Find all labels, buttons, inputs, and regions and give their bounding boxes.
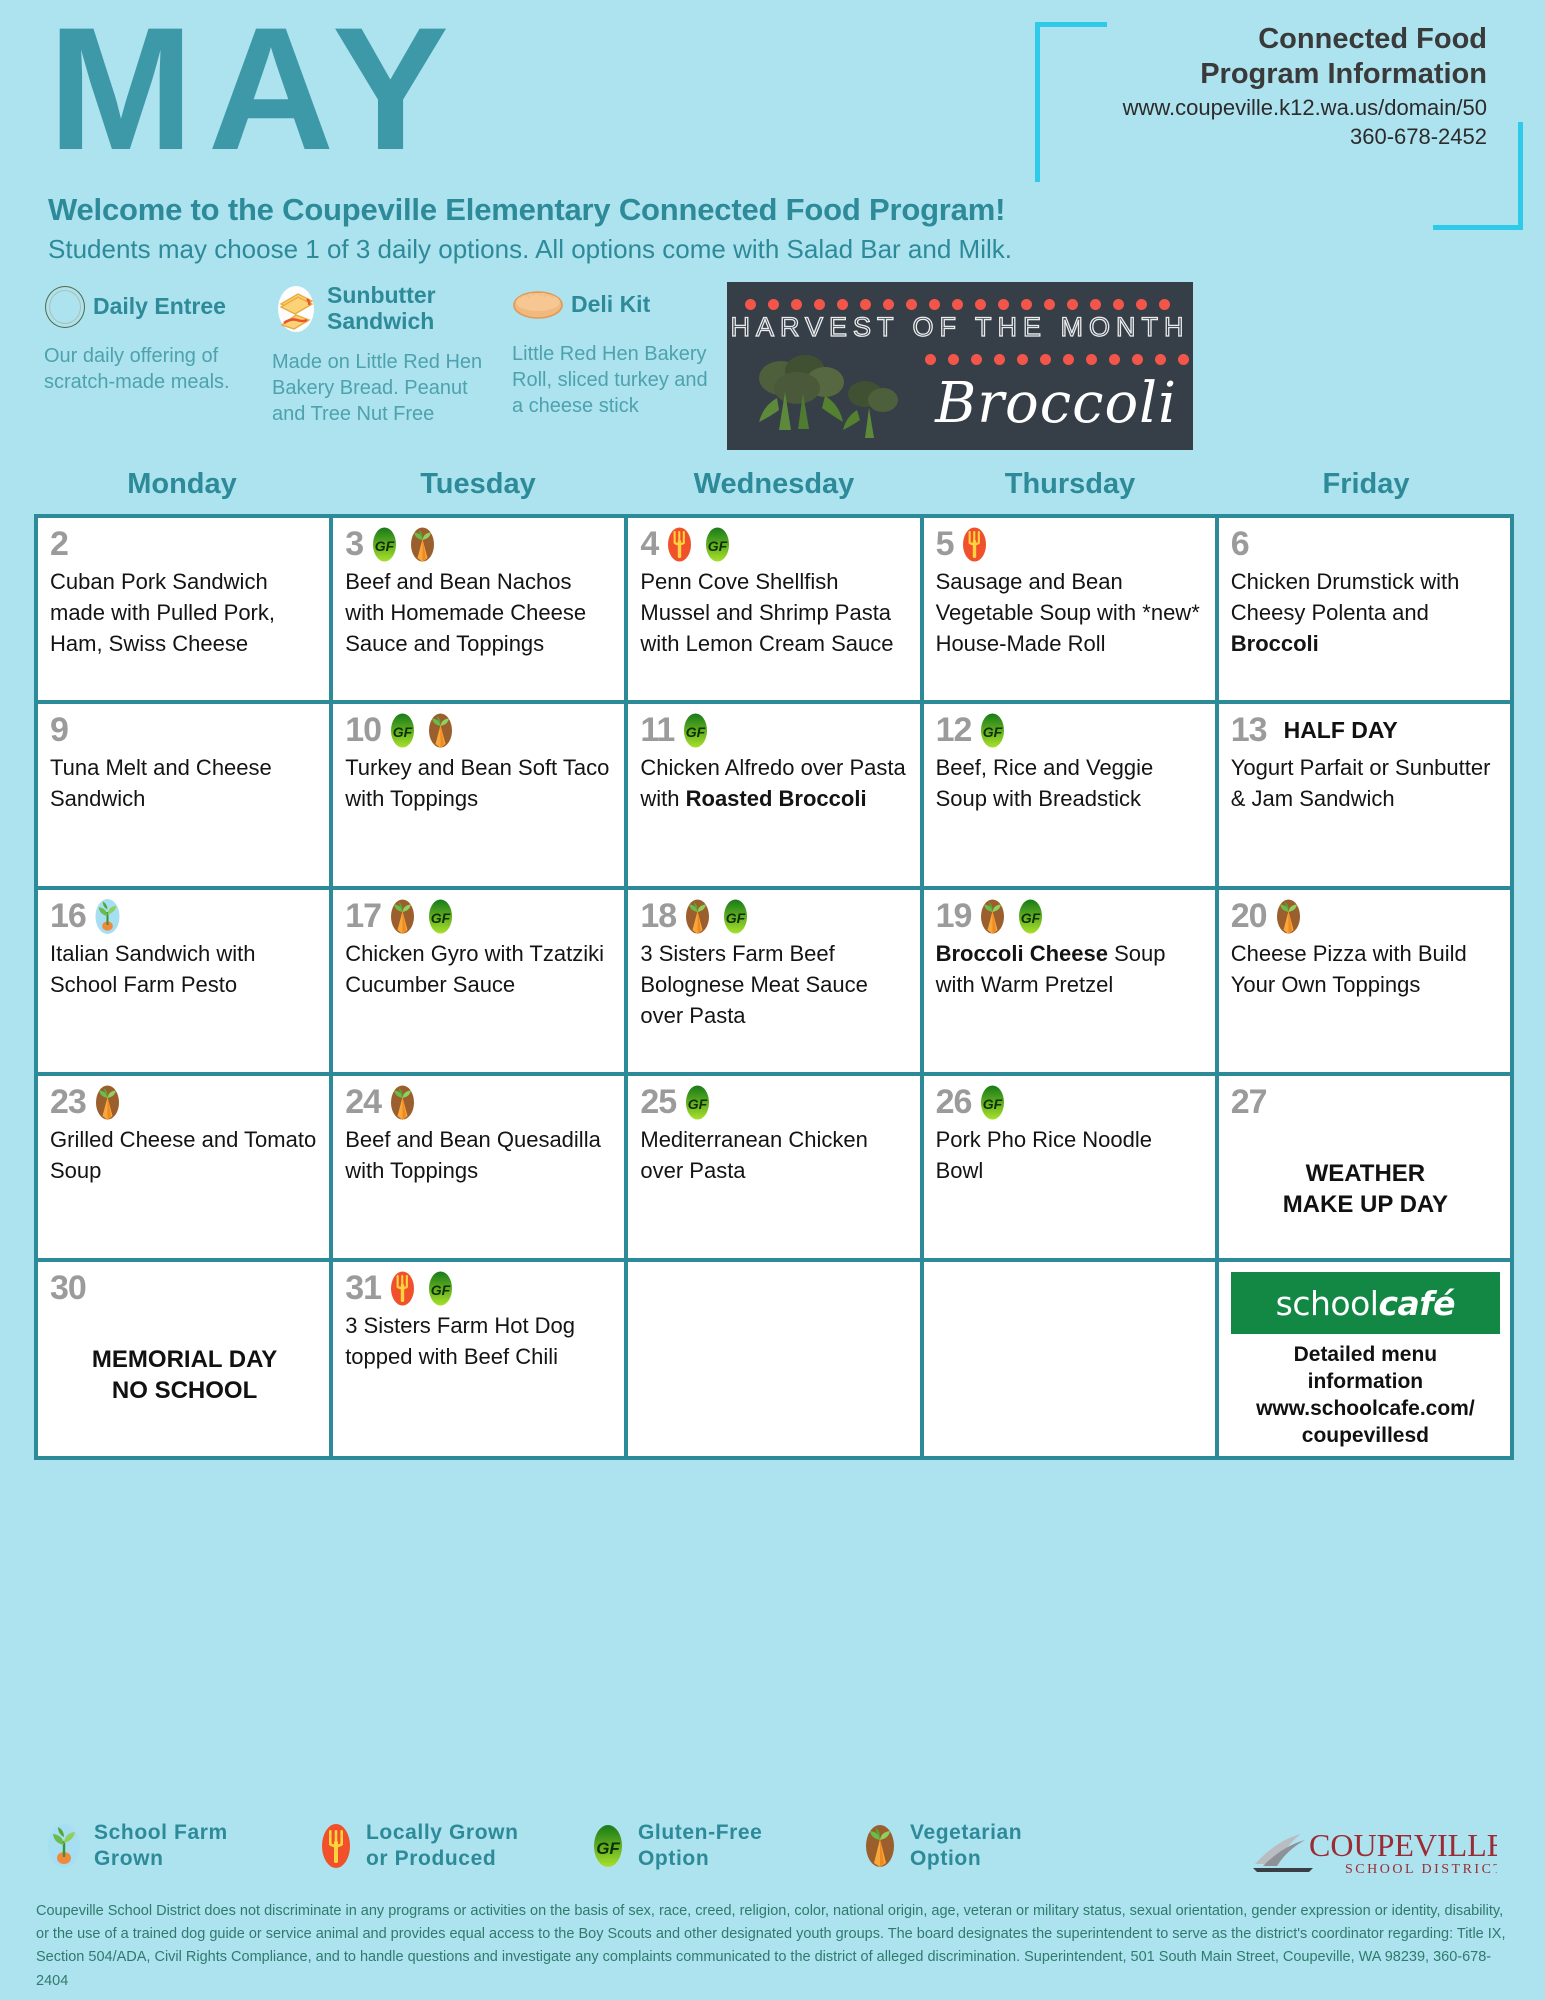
calendar-empty-cell bbox=[922, 1260, 1217, 1458]
weekday-friday: Friday bbox=[1218, 468, 1514, 501]
option-description: Little Red Hen Bakery Roll, sliced turke… bbox=[512, 341, 717, 419]
option-label: Deli Kit bbox=[571, 292, 650, 318]
day-number: 30 bbox=[50, 1271, 86, 1305]
day-number: 24 bbox=[345, 1085, 381, 1119]
calendar-empty-cell: schoolcaféDetailed menuinformationwww.sc… bbox=[1217, 1260, 1512, 1458]
carrot-icon bbox=[424, 712, 457, 749]
gf-icon: GF bbox=[681, 1084, 714, 1121]
weekday-tuesday: Tuesday bbox=[330, 468, 626, 501]
day-header: 6 bbox=[1231, 524, 1500, 564]
svg-text:GF: GF bbox=[686, 724, 706, 740]
sprout-icon bbox=[44, 1823, 84, 1869]
day-meal: Yogurt Parfait or Sunbutter & Jam Sandwi… bbox=[1231, 752, 1500, 814]
carrot-icon bbox=[1272, 898, 1305, 935]
legend-label-line2: Option bbox=[910, 1847, 981, 1870]
calendar-empty-cell bbox=[626, 1260, 921, 1458]
program-phone: 360-678-2452 bbox=[1035, 122, 1505, 152]
fork-icon bbox=[958, 526, 991, 563]
dot-row-top-decoration bbox=[727, 299, 1193, 310]
calendar-day-cell[interactable]: 6Chicken Drumstick with Cheesy Polenta a… bbox=[1217, 516, 1512, 702]
gf-icon: GF bbox=[424, 898, 457, 935]
legend-label: Locally Grown or Produced bbox=[366, 1820, 519, 1871]
weekday-monday: Monday bbox=[34, 468, 330, 501]
day-header: 23 bbox=[50, 1082, 319, 1122]
option-description: Our daily offering of scratch-made meals… bbox=[44, 343, 244, 395]
legend-label: Gluten-Free Option bbox=[638, 1820, 762, 1871]
svg-text:GF: GF bbox=[375, 538, 395, 554]
day-number: 13 bbox=[1231, 713, 1267, 747]
calendar-day-cell[interactable]: 11GFChicken Alfredo over Pasta with Roas… bbox=[626, 702, 921, 888]
calendar-day-cell[interactable]: 10GFTurkey and Bean Soft Taco with Toppi… bbox=[331, 702, 626, 888]
day-meal: Penn Cove Shellfish Mussel and Shrimp Pa… bbox=[640, 566, 909, 660]
day-number: 19 bbox=[936, 899, 972, 933]
day-meal: Grilled Cheese and Tomato Soup bbox=[50, 1124, 319, 1186]
calendar-week-row: 9Tuna Melt and Cheese Sandwich10GFTurkey… bbox=[36, 702, 1512, 888]
day-header: 27 bbox=[1231, 1082, 1500, 1122]
carrot-icon bbox=[386, 1084, 419, 1121]
calendar-day-cell[interactable]: 4GFPenn Cove Shellfish Mussel and Shrimp… bbox=[626, 516, 921, 702]
nondiscrimination-disclaimer: Coupeville School District does not disc… bbox=[36, 1900, 1516, 1993]
contact-heading-line2: Program Information bbox=[1035, 57, 1505, 92]
calendar-day-cell[interactable]: 31GF3 Sisters Farm Hot Dog topped with B… bbox=[331, 1260, 626, 1458]
weekday-thursday: Thursday bbox=[922, 468, 1218, 501]
day-meal: Sausage and Bean Vegetable Soup with *ne… bbox=[936, 566, 1205, 660]
option-label: Sunbutter Sandwich bbox=[327, 283, 504, 335]
fork-icon bbox=[663, 526, 696, 563]
day-meal: Italian Sandwich with School Farm Pesto bbox=[50, 938, 319, 1000]
day-header: 31GF bbox=[345, 1268, 614, 1308]
day-header: 4GF bbox=[640, 524, 909, 564]
day-meal: 3 Sisters Farm Beef Bolognese Meat Sauce… bbox=[640, 938, 909, 1032]
day-meal: Mediterranean Chicken over Pasta bbox=[640, 1124, 909, 1186]
svg-text:GF: GF bbox=[688, 1096, 708, 1112]
day-meal: Pork Pho Rice Noodle Bowl bbox=[936, 1124, 1205, 1186]
calendar-day-cell[interactable]: 26GFPork Pho Rice Noodle Bowl bbox=[922, 1074, 1217, 1260]
program-website[interactable]: www.coupeville.k12.wa.us/domain/50 bbox=[1035, 93, 1505, 123]
page-title: MAY bbox=[48, 2, 463, 177]
day-meal: Turkey and Bean Soft Taco with Toppings bbox=[345, 752, 614, 814]
svg-text:GF: GF bbox=[983, 1096, 1003, 1112]
calendar-day-cell[interactable]: 30MEMORIAL DAYNO SCHOOL bbox=[36, 1260, 331, 1458]
harvest-of-the-month-panel: HARVEST OF THE MONTH Broccoli bbox=[727, 282, 1193, 450]
icon-legend: School Farm Grown Locally Grown or Produ… bbox=[44, 1820, 1224, 1871]
bread-roll-icon bbox=[512, 283, 564, 327]
day-meal: Beef, Rice and Veggie Soup with Breadsti… bbox=[936, 752, 1205, 814]
gf-icon: GF bbox=[1014, 898, 1047, 935]
carrot-icon bbox=[406, 526, 439, 563]
day-header: 25GF bbox=[640, 1082, 909, 1122]
day-header: 20 bbox=[1231, 896, 1500, 936]
day-number: 10 bbox=[345, 713, 381, 747]
day-meal: Tuna Melt and Cheese Sandwich bbox=[50, 752, 319, 814]
day-number: 4 bbox=[640, 527, 658, 561]
district-name: COUPEVILLE bbox=[1309, 1827, 1497, 1863]
plate-icon bbox=[44, 285, 86, 329]
day-meal: Cheese Pizza with Build Your Own Topping… bbox=[1231, 938, 1500, 1000]
calendar-day-cell[interactable]: 3GFBeef and Bean Nachos with Homemade Ch… bbox=[331, 516, 626, 702]
day-meal: Cuban Pork Sandwich made with Pulled Por… bbox=[50, 566, 319, 660]
legend-label-line2: Grown bbox=[94, 1847, 164, 1870]
welcome-heading: Welcome to the Coupeville Elementary Con… bbox=[48, 192, 1005, 228]
contact-heading-line1: Connected Food bbox=[1035, 22, 1505, 57]
sandwich-icon bbox=[272, 285, 320, 333]
day-number: 18 bbox=[640, 899, 676, 933]
option-description: Made on Little Red Hen Bakery Bread. Pea… bbox=[272, 349, 498, 427]
calendar-week-row: 2Cuban Pork Sandwich made with Pulled Po… bbox=[36, 516, 1512, 702]
day-note: HALF DAY bbox=[1284, 717, 1398, 744]
legend-item-school-farm-grown: School Farm Grown bbox=[44, 1820, 316, 1871]
calendar-day-cell[interactable]: 16Italian Sandwich with School Farm Pest… bbox=[36, 888, 331, 1074]
day-meal: 3 Sisters Farm Hot Dog topped with Beef … bbox=[345, 1310, 614, 1372]
day-meal: Chicken Alfredo over Pasta with Roasted … bbox=[640, 752, 909, 814]
day-header: 3GF bbox=[345, 524, 614, 564]
weekday-wednesday: Wednesday bbox=[626, 468, 922, 501]
day-header: 5 bbox=[936, 524, 1205, 564]
header: MAY Connected Food Program Information w… bbox=[0, 0, 1545, 260]
day-number: 26 bbox=[936, 1085, 972, 1119]
calendar-day-cell[interactable]: 5Sausage and Bean Vegetable Soup with *n… bbox=[922, 516, 1217, 702]
day-number: 2 bbox=[50, 527, 68, 561]
gf-icon: GF bbox=[719, 898, 752, 935]
calendar-day-cell[interactable]: 23Grilled Cheese and Tomato Soup bbox=[36, 1074, 331, 1260]
fork-icon bbox=[386, 1270, 419, 1307]
calendar-day-cell[interactable]: 19GFBroccoli Cheese Soup with Warm Pretz… bbox=[922, 888, 1217, 1074]
harvest-produce-name: Broccoli bbox=[935, 371, 1177, 436]
option-sunbutter-sandwich: Sunbutter Sandwich Made on Little Red He… bbox=[272, 283, 504, 427]
calendar-day-cell[interactable]: 20Cheese Pizza with Build Your Own Toppi… bbox=[1217, 888, 1512, 1074]
svg-text:GF: GF bbox=[708, 538, 728, 554]
day-notice: WEATHERMAKE UP DAY bbox=[1231, 1158, 1500, 1220]
calendar-day-cell[interactable]: 25GFMediterranean Chicken over Pasta bbox=[626, 1074, 921, 1260]
legend-label-line1: Locally Grown bbox=[366, 1821, 519, 1844]
day-number: 27 bbox=[1231, 1085, 1267, 1119]
weekday-header-row: Monday Tuesday Wednesday Thursday Friday bbox=[34, 468, 1514, 501]
sprout-icon bbox=[91, 898, 124, 935]
calendar-week-row: 23Grilled Cheese and Tomato Soup24Beef a… bbox=[36, 1074, 1512, 1260]
day-header: 11GF bbox=[640, 710, 909, 750]
carrot-icon bbox=[91, 1084, 124, 1121]
legend-label-line2: Option bbox=[638, 1847, 709, 1870]
gf-icon: GF bbox=[386, 712, 419, 749]
broccoli-icon bbox=[733, 338, 933, 450]
calendar-day-cell[interactable]: 9Tuna Melt and Cheese Sandwich bbox=[36, 702, 331, 888]
welcome-subtitle: Students may choose 1 of 3 daily options… bbox=[48, 234, 1012, 265]
day-meal: Chicken Drumstick with Cheesy Polenta an… bbox=[1231, 566, 1500, 660]
gf-icon: GF bbox=[701, 526, 734, 563]
calendar-day-cell[interactable]: 13HALF DAYYogurt Parfait or Sunbutter & … bbox=[1217, 702, 1512, 888]
calendar-day-cell[interactable]: 18GF3 Sisters Farm Beef Bolognese Meat S… bbox=[626, 888, 921, 1074]
legend-label-line1: Vegetarian bbox=[910, 1821, 1022, 1844]
day-header: 16 bbox=[50, 896, 319, 936]
day-meal: Chicken Gyro with Tzatziki Cucumber Sauc… bbox=[345, 938, 614, 1000]
option-daily-entree: Daily Entree Our daily offering of scrat… bbox=[44, 285, 254, 395]
calendar-day-cell[interactable]: 27WEATHERMAKE UP DAY bbox=[1217, 1074, 1512, 1260]
day-number: 3 bbox=[345, 527, 363, 561]
svg-text:GF: GF bbox=[596, 1839, 620, 1858]
day-header: 19GF bbox=[936, 896, 1205, 936]
day-number: 6 bbox=[1231, 527, 1249, 561]
svg-text:GF: GF bbox=[1021, 910, 1041, 926]
legend-label: Vegetarian Option bbox=[910, 1820, 1022, 1871]
schoolcafe-logo: schoolcafé bbox=[1231, 1272, 1500, 1334]
day-number: 25 bbox=[640, 1085, 676, 1119]
day-number: 31 bbox=[345, 1271, 381, 1305]
schoolcafe-block[interactable]: schoolcaféDetailed menuinformationwww.sc… bbox=[1231, 1268, 1500, 1450]
day-header: 30 bbox=[50, 1268, 319, 1308]
day-header: 2 bbox=[50, 524, 319, 564]
carrot-icon bbox=[976, 898, 1009, 935]
legend-label-line1: School Farm bbox=[94, 1821, 228, 1844]
day-header: 13HALF DAY bbox=[1231, 710, 1500, 750]
gf-icon: GF bbox=[976, 712, 1009, 749]
calendar-week-row: 16Italian Sandwich with School Farm Pest… bbox=[36, 888, 1512, 1074]
svg-text:GF: GF bbox=[393, 724, 413, 740]
gf-icon: GF bbox=[976, 1084, 1009, 1121]
day-header: 10GF bbox=[345, 710, 614, 750]
day-header: 24 bbox=[345, 1082, 614, 1122]
calendar-day-cell[interactable]: 2Cuban Pork Sandwich made with Pulled Po… bbox=[36, 516, 331, 702]
carrot-icon bbox=[860, 1823, 900, 1869]
day-header: 26GF bbox=[936, 1082, 1205, 1122]
legend-item-gluten-free: GF Gluten-Free Option bbox=[588, 1820, 860, 1871]
carrot-icon bbox=[681, 898, 714, 935]
svg-text:GF: GF bbox=[431, 1282, 451, 1298]
day-meal: Broccoli Cheese Soup with Warm Pretzel bbox=[936, 938, 1205, 1000]
day-header: 12GF bbox=[936, 710, 1205, 750]
legend-label-line1: Gluten-Free bbox=[638, 1821, 762, 1844]
calendar-day-cell[interactable]: 12GFBeef, Rice and Veggie Soup with Brea… bbox=[922, 702, 1217, 888]
day-number: 16 bbox=[50, 899, 86, 933]
option-label: Daily Entree bbox=[93, 294, 226, 320]
day-number: 9 bbox=[50, 713, 68, 747]
carrot-icon bbox=[386, 898, 419, 935]
contact-info: Connected Food Program Information www.c… bbox=[1035, 22, 1505, 152]
menu-poster: MAY Connected Food Program Information w… bbox=[0, 0, 1545, 2000]
legend-item-locally-grown: Locally Grown or Produced bbox=[316, 1820, 588, 1871]
svg-text:GF: GF bbox=[983, 724, 1003, 740]
day-number: 17 bbox=[345, 899, 381, 933]
fork-icon bbox=[316, 1823, 356, 1869]
day-meal: Beef and Bean Nachos with Homemade Chees… bbox=[345, 566, 614, 660]
day-number: 23 bbox=[50, 1085, 86, 1119]
legend-item-vegetarian: Vegetarian Option bbox=[860, 1820, 1132, 1871]
day-number: 5 bbox=[936, 527, 954, 561]
schoolcafe-info: Detailed menuinformationwww.schoolcafe.c… bbox=[1231, 1342, 1500, 1450]
day-header: 9 bbox=[50, 710, 319, 750]
svg-text:GF: GF bbox=[431, 910, 451, 926]
calendar-day-cell[interactable]: 24Beef and Bean Quesadilla with Toppings bbox=[331, 1074, 626, 1260]
day-number: 11 bbox=[640, 713, 674, 747]
svg-text:GF: GF bbox=[726, 910, 746, 926]
day-number: 12 bbox=[936, 713, 972, 747]
legend-label: School Farm Grown bbox=[94, 1820, 228, 1871]
menu-calendar: 2Cuban Pork Sandwich made with Pulled Po… bbox=[34, 514, 1514, 1460]
gf-icon: GF bbox=[679, 712, 712, 749]
gf-icon: GF bbox=[368, 526, 401, 563]
day-notice: MEMORIAL DAYNO SCHOOL bbox=[50, 1344, 319, 1406]
day-meal: Beef and Bean Quesadilla with Toppings bbox=[345, 1124, 614, 1186]
option-deli-kit: Deli Kit Little Red Hen Bakery Roll, sli… bbox=[512, 283, 722, 419]
gf-icon: GF bbox=[424, 1270, 457, 1307]
calendar-day-cell[interactable]: 17GFChicken Gyro with Tzatziki Cucumber … bbox=[331, 888, 626, 1074]
district-subtitle: SCHOOL DISTRICT bbox=[1345, 1862, 1497, 1877]
day-header: 17GF bbox=[345, 896, 614, 936]
day-number: 20 bbox=[1231, 899, 1267, 933]
coupeville-school-district-logo: COUPEVILLE SCHOOL DISTRICT bbox=[1247, 1818, 1497, 1880]
calendar-week-row: 30MEMORIAL DAYNO SCHOOL31GF3 Sisters Far… bbox=[36, 1260, 1512, 1458]
legend-label-line2: or Produced bbox=[366, 1847, 496, 1870]
gf-icon: GF bbox=[588, 1823, 628, 1869]
day-header: 18GF bbox=[640, 896, 909, 936]
